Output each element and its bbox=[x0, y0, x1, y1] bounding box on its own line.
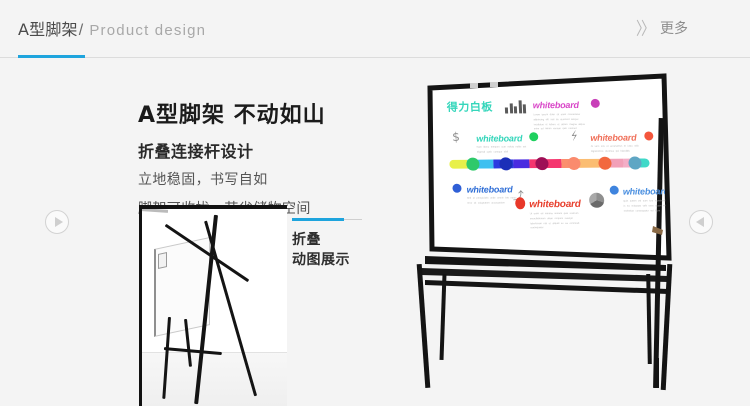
rear-leg-inner bbox=[646, 274, 652, 364]
page-header: A型脚架/ Product design 〉〉 更多 bbox=[0, 0, 750, 58]
copy-bullet-1: 立地稳固，书写自如 bbox=[138, 170, 326, 191]
arrow-right-icon bbox=[55, 217, 63, 227]
product-showcase: A型脚架 不动如山 折叠连接杆设计 立地稳固，书写自如 脚架可收拢，节省储物空间… bbox=[0, 58, 750, 406]
carousel-prev-button[interactable] bbox=[45, 210, 69, 234]
board-clip bbox=[158, 252, 167, 269]
front-leg-right bbox=[661, 264, 673, 390]
page-title-cn: A型脚架 bbox=[18, 20, 78, 39]
folded-cross-brace bbox=[164, 347, 222, 355]
a-frame-easel-whiteboard: 得力白板 whiteboard Lorem ipsum dolor sit am… bbox=[385, 58, 715, 406]
folded-pen-tray bbox=[142, 208, 168, 213]
folded-easel-photo bbox=[139, 205, 287, 406]
fold-caption-line-2: 动图展示 bbox=[292, 250, 350, 270]
chevron-right-icon: 〉〉 bbox=[636, 16, 653, 41]
board-surface bbox=[435, 81, 665, 254]
marketing-copy: A型脚架 不动如山 折叠连接杆设计 立地稳固，书写自如 脚架可收拢，节省储物空间 bbox=[138, 102, 326, 220]
more-link[interactable]: 〉〉 更多 bbox=[636, 18, 688, 38]
lower-rail bbox=[421, 268, 668, 282]
page-title-slash: / bbox=[78, 22, 85, 39]
rear-foot bbox=[654, 358, 659, 388]
front-leg-inner bbox=[440, 274, 447, 360]
folded-easel-illustration bbox=[142, 209, 287, 406]
board-clip-right bbox=[490, 82, 498, 87]
page-title-en: Product design bbox=[89, 22, 206, 39]
folded-leg-rear bbox=[204, 221, 257, 397]
copy-headline: A型脚架 不动如山 bbox=[138, 102, 326, 130]
board-clip-left bbox=[470, 83, 478, 88]
easel-frame-svg bbox=[385, 58, 715, 406]
leg-cross-brace bbox=[425, 280, 668, 294]
fold-demo-caption: 折叠 动图展示 bbox=[292, 218, 350, 271]
page-title: A型脚架/ Product design bbox=[18, 16, 206, 40]
caption-accent-rule bbox=[292, 218, 344, 221]
fold-caption-line-1: 折叠 bbox=[292, 230, 350, 250]
more-label: 更多 bbox=[660, 18, 688, 38]
copy-subhead: 折叠连接杆设计 bbox=[138, 138, 326, 162]
